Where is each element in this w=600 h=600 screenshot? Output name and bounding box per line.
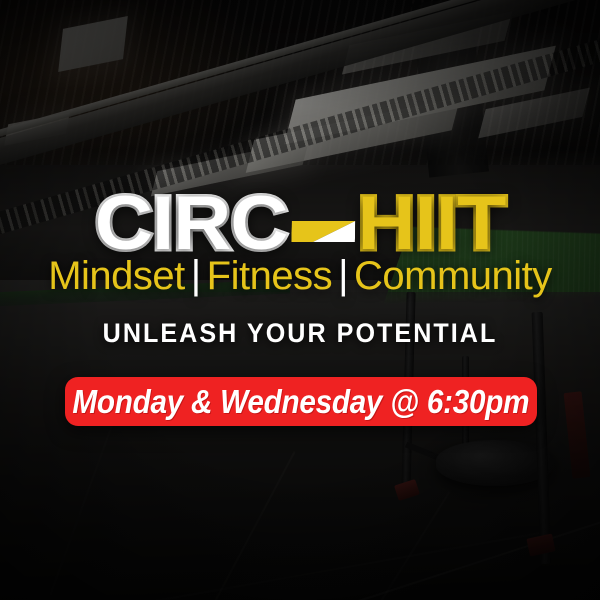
schedule-banner: Monday & Wednesday @ 6:30pm xyxy=(65,377,537,426)
brand-tagline: Mindset|Fitness|Community xyxy=(0,254,600,299)
brand-slanted-dash-icon xyxy=(291,221,355,242)
poster-slogan: UNLEASH YOUR POTENTIAL xyxy=(21,318,579,349)
gym-promo-poster: CIRCHIIT Mindset|Fitness|Community UNLEA… xyxy=(0,0,600,600)
poster-content: CIRCHIIT Mindset|Fitness|Community UNLEA… xyxy=(0,0,600,600)
brand-wordmark: CIRCHIIT xyxy=(0,186,600,262)
tagline-item-fitness: Fitness xyxy=(207,254,332,298)
tagline-item-mindset: Mindset xyxy=(48,254,185,298)
tagline-separator: | xyxy=(332,253,354,297)
tagline-item-community: Community xyxy=(354,254,552,298)
tagline-separator: | xyxy=(185,253,207,297)
schedule-banner-text: Monday & Wednesday @ 6:30pm xyxy=(73,383,530,421)
